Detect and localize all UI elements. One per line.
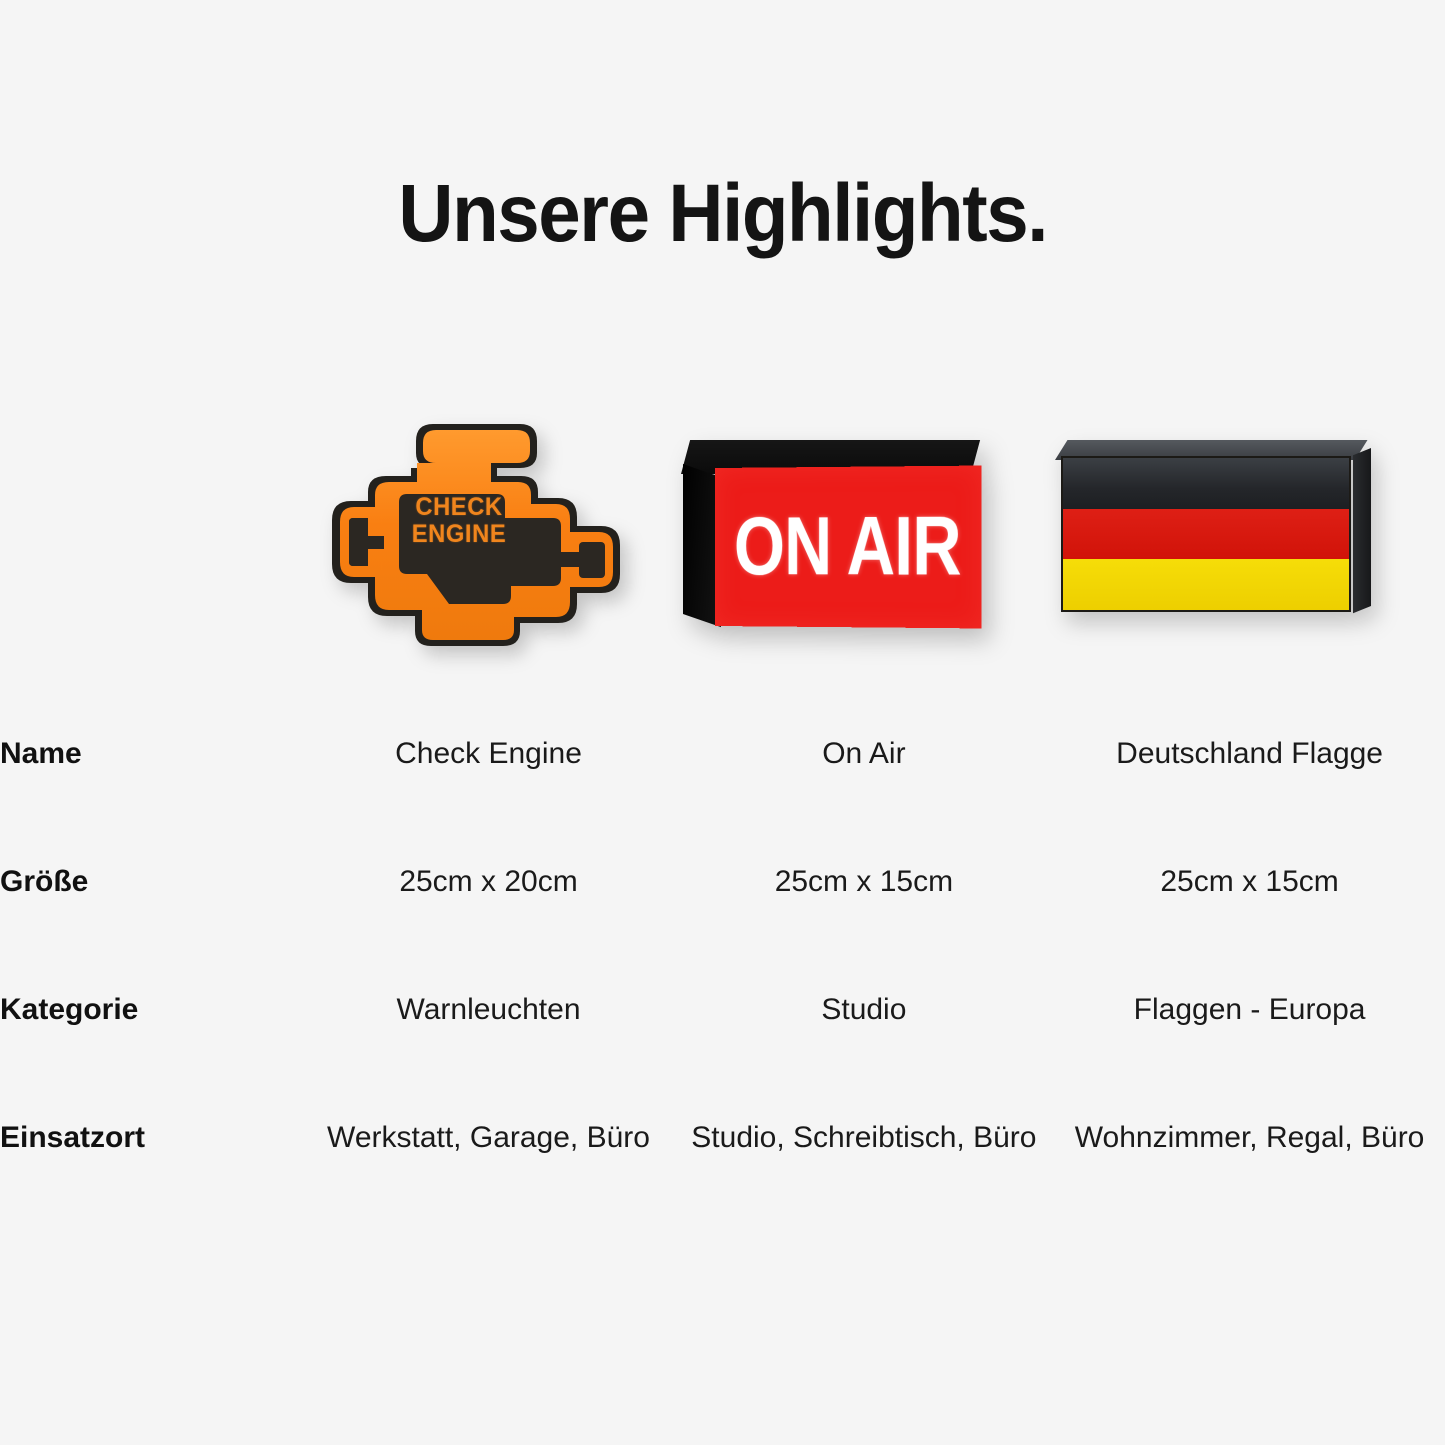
flag-band-red	[1063, 509, 1349, 560]
flag-case-side	[1353, 448, 1371, 613]
row-label-kategorie: Kategorie	[0, 946, 303, 1074]
highlights-page: Unsere Highlights.	[0, 0, 1445, 1445]
table-row: Kategorie Warnleuchten Studio Flaggen - …	[0, 946, 1445, 1074]
product-image-check-engine[interactable]: CHECK ENGINE	[295, 410, 655, 660]
cell-groesse-deutschland-flagge: 25cm x 15cm	[1054, 818, 1445, 946]
row-label-einsatzort: Einsatzort	[0, 1074, 303, 1202]
cell-name-deutschland-flagge: Deutschland Flagge	[1054, 690, 1445, 818]
flag-band-gold	[1063, 559, 1349, 610]
cell-kategorie-deutschland-flagge: Flaggen - Europa	[1054, 946, 1445, 1074]
germany-flag-lightbox-icon	[1055, 440, 1375, 635]
on-air-lightbox-icon: ON AIR	[681, 440, 1001, 640]
row-label-groesse: Größe	[0, 818, 303, 946]
product-image-on-air[interactable]: ON AIR	[655, 410, 1025, 660]
page-header: Unsere Highlights.	[0, 118, 1445, 310]
product-comparison-table: Name Check Engine On Air Deutschland Fla…	[0, 690, 1445, 1202]
on-air-sign-text: ON AIR	[734, 505, 961, 589]
cell-groesse-on-air: 25cm x 15cm	[674, 818, 1055, 946]
flag-face	[1061, 456, 1351, 612]
table-row: Name Check Engine On Air Deutschland Fla…	[0, 690, 1445, 818]
flag-band-black	[1063, 458, 1349, 509]
cell-einsatzort-check-engine: Werkstatt, Garage, Büro	[303, 1074, 673, 1202]
check-engine-lamp-icon	[315, 418, 635, 650]
page-title: Unsere Highlights.	[398, 173, 1047, 255]
cell-name-check-engine: Check Engine	[303, 690, 673, 818]
cell-name-on-air: On Air	[674, 690, 1055, 818]
product-image-row: CHECK ENGINE ON AIR	[0, 410, 1445, 660]
on-air-face: ON AIR	[715, 466, 982, 629]
row-label-name: Name	[0, 690, 303, 818]
cell-kategorie-check-engine: Warnleuchten	[303, 946, 673, 1074]
cell-groesse-check-engine: 25cm x 20cm	[303, 818, 673, 946]
cell-kategorie-on-air: Studio	[674, 946, 1055, 1074]
table-row: Größe 25cm x 20cm 25cm x 15cm 25cm x 15c…	[0, 818, 1445, 946]
cell-einsatzort-on-air: Studio, Schreibtisch, Büro	[674, 1074, 1055, 1202]
cell-einsatzort-deutschland-flagge: Wohnzimmer, Regal, Büro	[1054, 1074, 1445, 1202]
product-image-deutschland-flagge[interactable]	[1025, 410, 1405, 660]
table-row: Einsatzort Werkstatt, Garage, Büro Studi…	[0, 1074, 1445, 1202]
